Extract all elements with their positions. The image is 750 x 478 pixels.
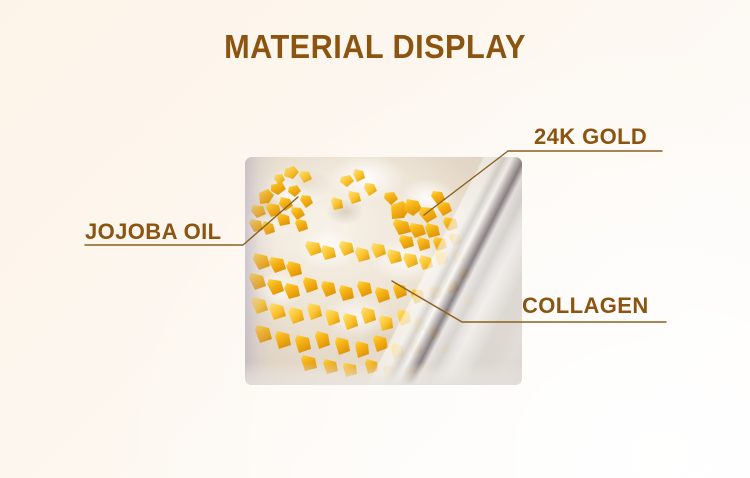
photo-vignette bbox=[245, 157, 522, 385]
material-display-banner: MATERIAL DISPLAY bbox=[0, 0, 750, 478]
callout-label-jojoba-oil: JOJOBA OIL bbox=[85, 219, 221, 245]
callout-label-24k-gold: 24K GOLD bbox=[534, 124, 647, 150]
page-title: MATERIAL DISPLAY bbox=[26, 28, 724, 66]
callout-label-collagen: COLLAGEN bbox=[522, 293, 649, 319]
product-photo bbox=[245, 157, 522, 385]
